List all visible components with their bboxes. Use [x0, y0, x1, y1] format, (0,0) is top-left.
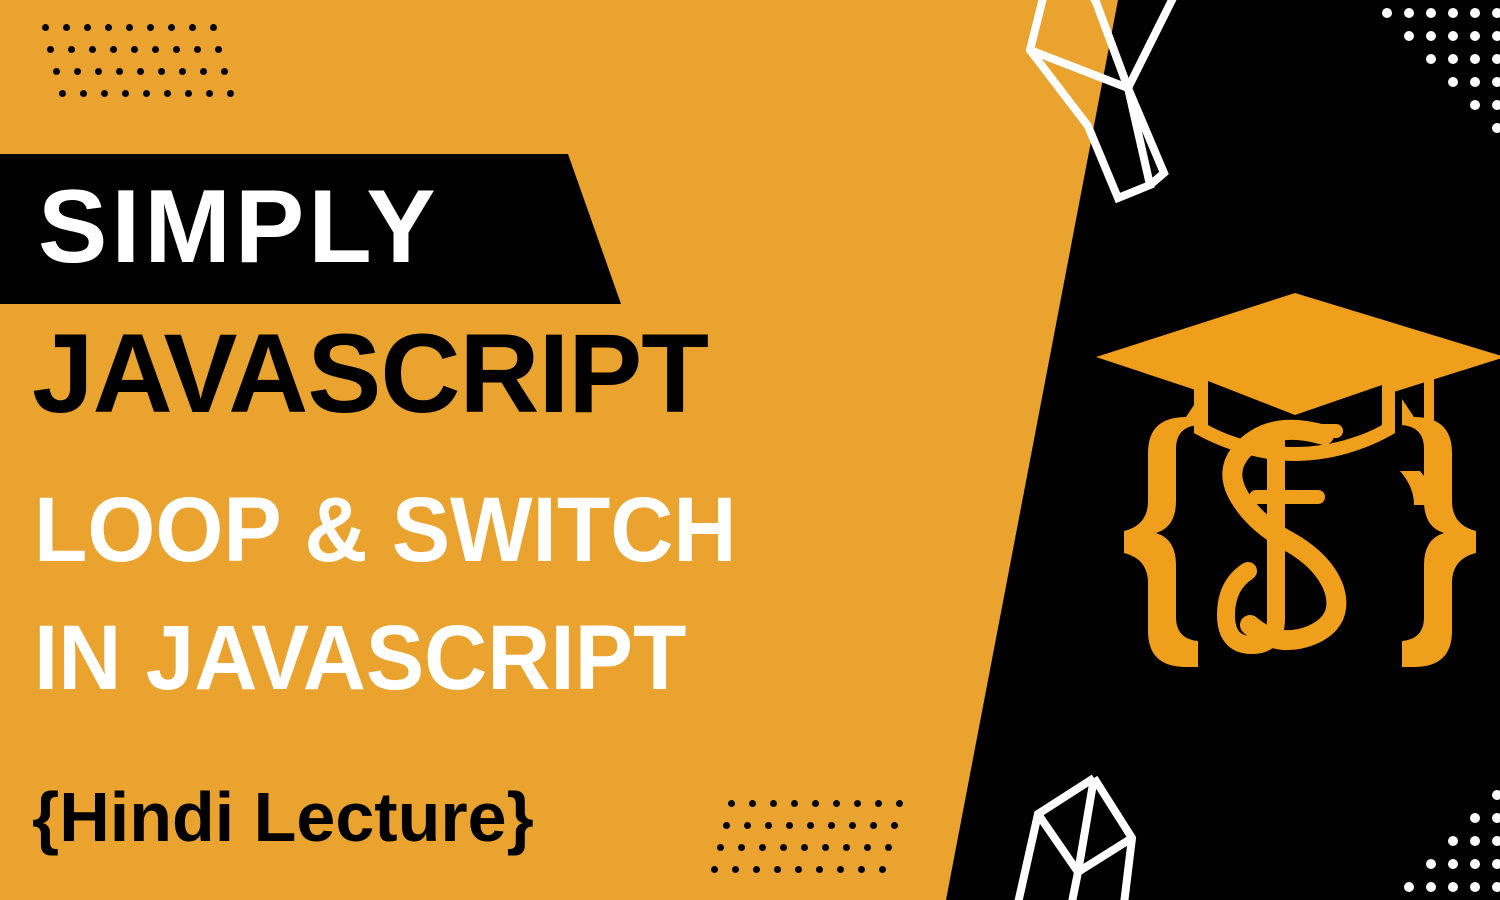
- simply-banner: SIMPLY: [0, 154, 625, 304]
- video-thumbnail-canvas: SIMPLY JAVASCRIPT LOOP & SWITCH IN JAVAS…: [0, 0, 1500, 900]
- tagline-hindi-lecture: {Hindi Lecture}: [32, 782, 534, 852]
- subtitle-line-2: IN JAVASCRIPT: [34, 612, 686, 704]
- brand-word-simply: SIMPLY: [38, 175, 440, 279]
- page-title-javascript: JAVASCRIPT: [32, 318, 708, 430]
- subtitle-line-1: LOOP & SWITCH: [34, 484, 736, 576]
